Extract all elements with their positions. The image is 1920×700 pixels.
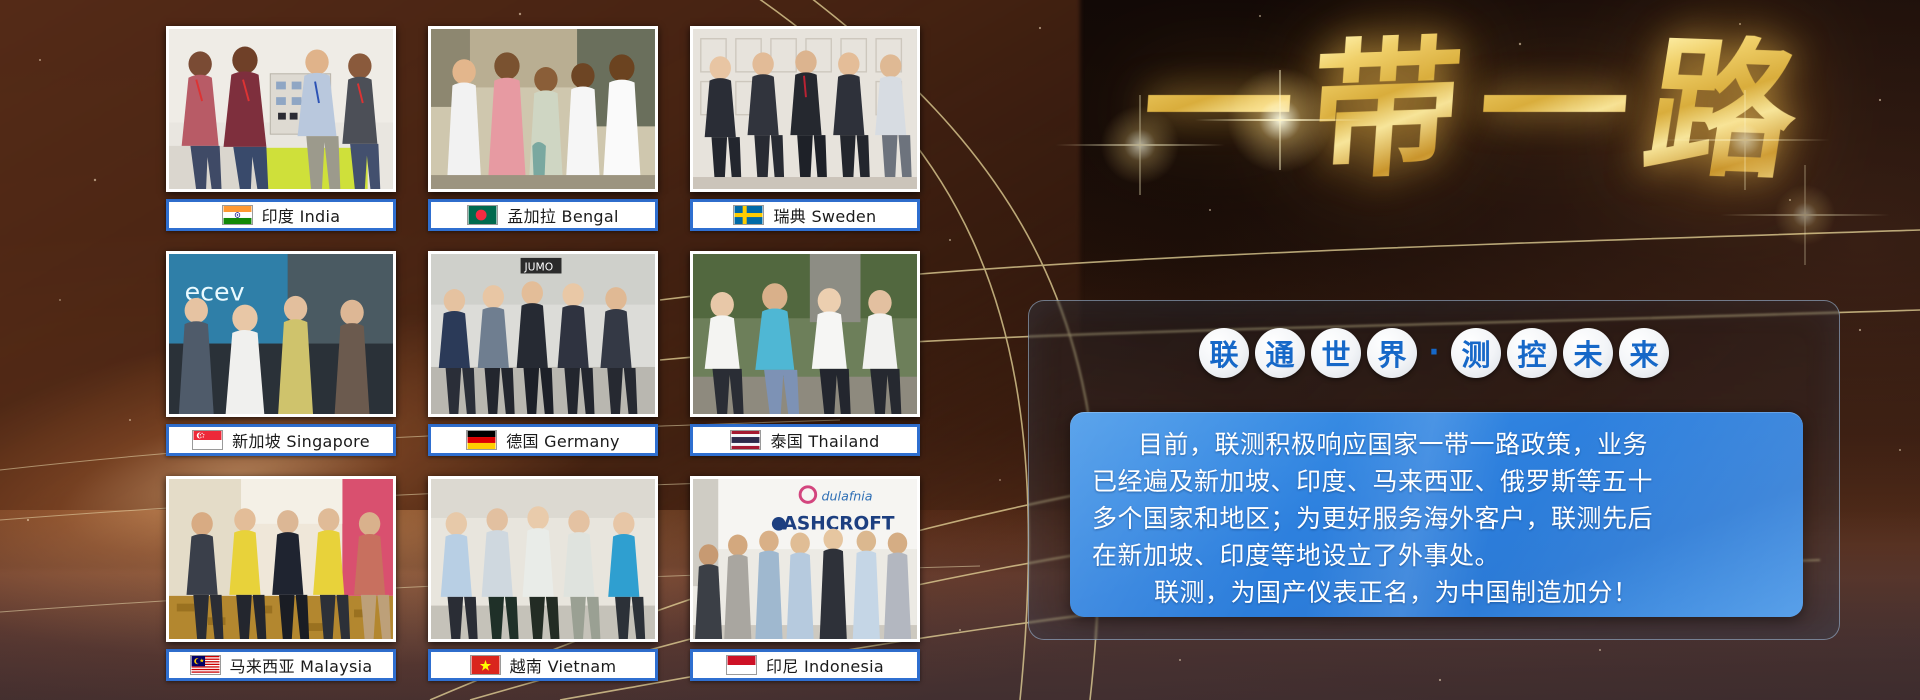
photo-singapore: ecev (166, 251, 396, 417)
caption-label: 泰国 Thailand (770, 428, 879, 452)
gallery-item-bengal[interactable]: 孟加拉 Bengal (428, 26, 658, 232)
caption-thailand: 泰国 Thailand (690, 424, 920, 456)
gallery-item-india[interactable]: 印度 India (166, 26, 396, 232)
flag-bangladesh-icon (467, 205, 498, 225)
banner-stage: 一 带 一 路 (0, 0, 1920, 700)
caption-india: 印度 India (166, 199, 396, 231)
caption-label: 越南 Vietnam (510, 653, 617, 677)
flag-thailand-icon (730, 430, 761, 450)
slogan-separator-dot: · (1423, 342, 1445, 364)
gallery-item-singapore[interactable]: ecev 新加坡 Singapore (166, 251, 396, 457)
caption-label: 印度 India (262, 203, 341, 227)
flag-indonesia-icon (726, 655, 757, 675)
description-line-4: 在新加坡、印度等地设立了外事处。 (1092, 537, 1781, 574)
caption-bengal: 孟加拉 Bengal (428, 199, 658, 231)
flag-india-icon (222, 205, 253, 225)
caption-singapore: 新加坡 Singapore (166, 424, 396, 456)
caption-label: 印尼 Indonesia (766, 653, 884, 677)
flag-malaysia-icon (190, 655, 221, 675)
caption-label: 新加坡 Singapore (232, 428, 370, 452)
caption-indonesia: 印尼 Indonesia (690, 649, 920, 681)
photo-sweden (690, 26, 920, 192)
gallery-item-thailand[interactable]: 泰国 Thailand (690, 251, 920, 457)
photo-thailand (690, 251, 920, 417)
country-photo-grid: 印度 India (166, 26, 920, 682)
gallery-item-indonesia[interactable]: dulafnia ASHCROFT (690, 476, 920, 682)
slogan-char-7: 未 (1563, 328, 1613, 378)
slogan-char-5: 测 (1451, 328, 1501, 378)
slogan-char-4: 界 (1367, 328, 1417, 378)
svg-text:JUMO: JUMO (523, 261, 553, 274)
photo-vietnam (428, 476, 658, 642)
svg-text:dulafnia: dulafnia (822, 488, 873, 503)
gallery-item-germany[interactable]: JUMO 德国 Germany (428, 251, 658, 457)
caption-sweden: 瑞典 Sweden (690, 199, 920, 231)
description-line-1: 目前，联测积极响应国家一带一路政策，业务 (1092, 426, 1781, 463)
photo-germany: JUMO (428, 251, 658, 417)
slogan-char-8: 来 (1619, 328, 1669, 378)
photo-indonesia: dulafnia ASHCROFT (690, 476, 920, 642)
slogan-char-6: 控 (1507, 328, 1557, 378)
slogan-char-1: 联 (1199, 328, 1249, 378)
caption-label: 马来西亚 Malaysia (230, 653, 373, 677)
gallery-item-vietnam[interactable]: 越南 Vietnam (428, 476, 658, 682)
description-line-2: 已经遍及新加坡、印度、马来西亚、俄罗斯等五十 (1092, 463, 1781, 500)
gallery-item-malaysia[interactable]: 马来西亚 Malaysia (166, 476, 396, 682)
caption-label: 德国 Germany (506, 428, 620, 452)
caption-label: 瑞典 Sweden (773, 203, 876, 227)
photo-malaysia (166, 476, 396, 642)
flag-vietnam-icon (470, 655, 501, 675)
description-box: 目前，联测积极响应国家一带一路政策，业务 已经遍及新加坡、印度、马来西亚、俄罗斯… (1070, 412, 1803, 617)
flag-singapore-icon (192, 430, 223, 450)
caption-malaysia: 马来西亚 Malaysia (166, 649, 396, 681)
description-line-5: 联测，为国产仪表正名，为中国制造加分！ (1092, 574, 1781, 611)
slogan-char-3: 世 (1311, 328, 1361, 378)
flag-germany-icon (466, 430, 497, 450)
description-line-3: 多个国家和地区；为更好服务海外客户，联测先后 (1092, 500, 1781, 537)
slogan-char-2: 通 (1255, 328, 1305, 378)
photo-india (166, 26, 396, 192)
gallery-item-sweden[interactable]: 瑞典 Sweden (690, 26, 920, 232)
flag-sweden-icon (733, 205, 764, 225)
caption-label: 孟加拉 Bengal (507, 203, 618, 227)
caption-germany: 德国 Germany (428, 424, 658, 456)
photo-bengal (428, 26, 658, 192)
slogan-row: 联 通 世 界 · 测 控 未 来 (1028, 328, 1840, 378)
caption-vietnam: 越南 Vietnam (428, 649, 658, 681)
